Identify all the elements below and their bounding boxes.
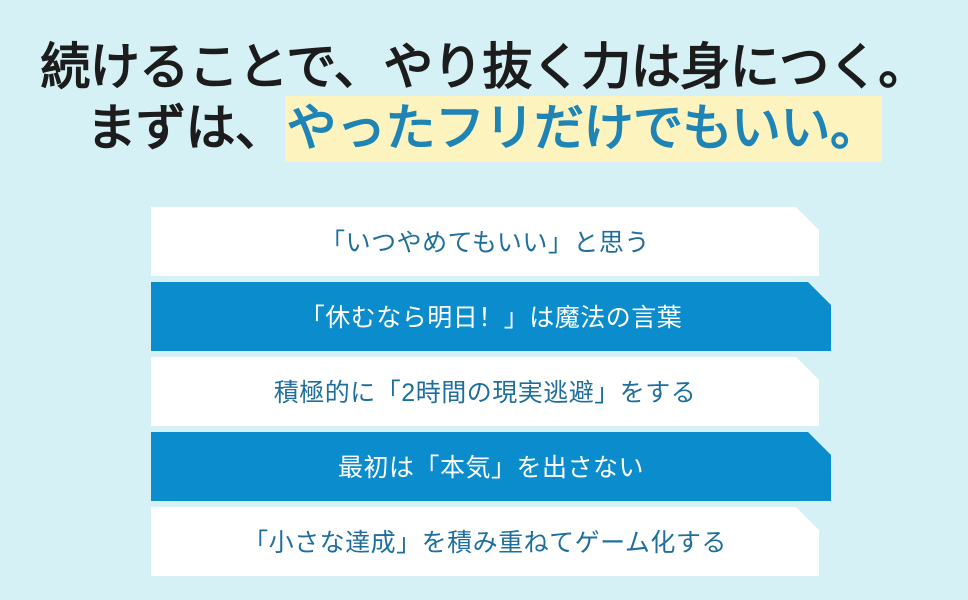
- list-item: 「休むなら明日！」は魔法の言葉: [151, 282, 831, 351]
- headline-line-2-plain: まずは、: [87, 100, 285, 156]
- list-item-label: 最初は「本気」を出さない: [338, 448, 644, 486]
- headline-highlight: やったフリだけでもいい。: [285, 96, 882, 162]
- list-item-label: 「休むなら明日！」は魔法の言葉: [300, 298, 683, 336]
- list-item: 最初は「本気」を出さない: [151, 432, 831, 501]
- page-title: 続けることで、やり抜く力は身につく。 まずは、やったフリだけでもいい。: [0, 38, 968, 157]
- list-item: 「いつやめてもいい」と思う: [151, 207, 819, 276]
- poster-root: 続けることで、やり抜く力は身につく。 まずは、やったフリだけでもいい。 「いつや…: [0, 0, 968, 600]
- list-item-label: 「いつやめてもいい」と思う: [320, 223, 650, 261]
- tips-banner-list: 「いつやめてもいい」と思う 「休むなら明日！」は魔法の言葉 積極的に「2時間の現…: [151, 207, 831, 582]
- headline-line-1: 続けることで、やり抜く力は身につく。: [0, 38, 968, 97]
- list-item: 積極的に「2時間の現実逃避」をする: [151, 357, 819, 426]
- list-item-label: 積極的に「2時間の現実逃避」をする: [274, 373, 696, 411]
- list-item-label: 「小さな達成」を積み重ねてゲーム化する: [243, 523, 727, 561]
- list-item: 「小さな達成」を積み重ねてゲーム化する: [151, 507, 819, 576]
- headline-line-1-text: 続けることで、やり抜く力は身につく。: [40, 39, 928, 95]
- headline-line-2: まずは、やったフリだけでもいい。: [0, 99, 968, 158]
